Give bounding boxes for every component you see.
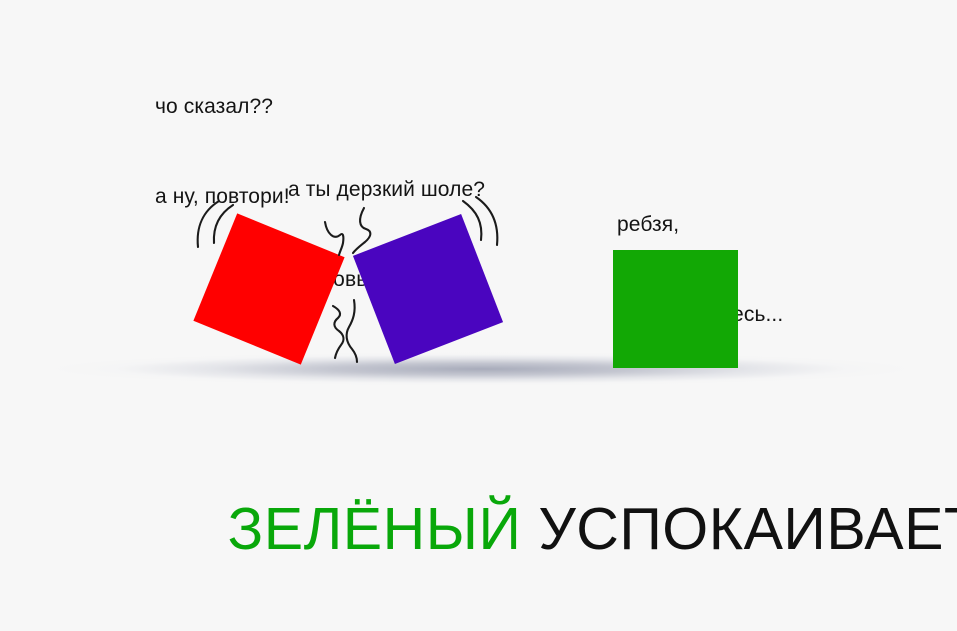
caption-rest-word: УСПОКАИВАЕТ bbox=[521, 496, 957, 562]
green-cube bbox=[613, 250, 738, 368]
speech-red-line-2: а ну, повтори! bbox=[155, 182, 290, 212]
ground-shadow bbox=[48, 352, 914, 386]
speech-purple-line-1: а ты дерзкий шоле? bbox=[288, 175, 485, 205]
speech-green-line-1: ребзя, bbox=[617, 210, 783, 240]
meme-canvas: чо сказал?? а ну, повтори! а ты дерзкий … bbox=[0, 0, 957, 537]
speech-red-line-1: чо сказал?? bbox=[155, 92, 290, 122]
caption: ЗЕЛЁНЫЙ УСПОКАИВАЕТ bbox=[160, 427, 957, 631]
caption-highlight-word: ЗЕЛЁНЫЙ bbox=[228, 496, 522, 562]
